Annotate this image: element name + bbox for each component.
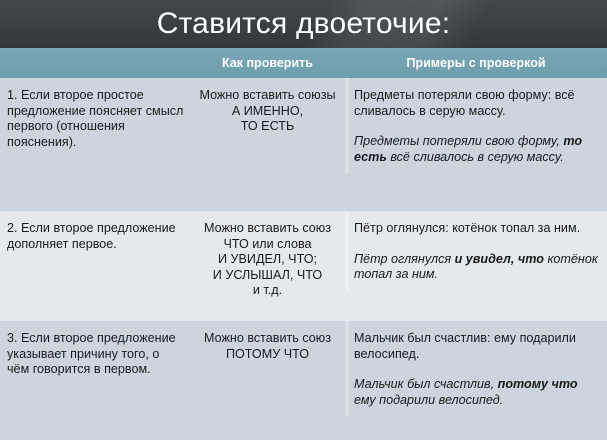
check-cell: Можно вставить союзыА ИМЕННО,ТО ЕСТЬ	[190, 78, 345, 143]
example-italic-after: ему подарили велосипед.	[354, 393, 503, 407]
rule-cell: 3. Если второе предложение указывает при…	[0, 321, 190, 386]
example-conjunction: и увидел, что	[455, 252, 544, 266]
rule-cell: 2. Если второе предложение дополняет пер…	[0, 211, 190, 260]
table-row: 3. Если второе предложение указывает при…	[0, 321, 607, 440]
title-bar: Ставится двоеточие:	[0, 0, 607, 48]
table-header-row: Как проверить Примеры с проверкой	[0, 48, 607, 78]
check-cell: Можно вставить союз ЧТО или словаИ УВИДЕ…	[190, 211, 345, 307]
example-italic-before: Предметы потеряли свою форму,	[354, 134, 563, 148]
example-italic-after: всё сливалось в серую массу.	[387, 150, 564, 164]
example-italic: Мальчик был счастлив, потому что ему под…	[354, 377, 599, 408]
table-row: 1. Если второе простое предложение поясн…	[0, 78, 607, 211]
example-italic-before: Мальчик был счастлив,	[354, 377, 498, 391]
example-italic: Пётр оглянулся и увидел, что котёнок топ…	[354, 252, 599, 283]
rule-cell: 1. Если второе простое предложение поясн…	[0, 78, 190, 158]
example-cell: Мальчик был счастлив: ему подарили велос…	[345, 321, 607, 416]
column-header-how-to-check: Как проверить	[190, 56, 345, 70]
rule-table-sheet: Ставится двоеточие: Как проверить Пример…	[0, 0, 607, 440]
page-title: Ставится двоеточие:	[0, 7, 607, 41]
column-header-examples: Примеры с проверкой	[345, 56, 607, 70]
example-conjunction: потому что	[498, 377, 578, 391]
example-plain: Пётр оглянулся: котёнок топал за ним.	[354, 221, 599, 237]
check-cell: Можно вставить союзПОТОМУ ЧТО	[190, 321, 345, 370]
table-row: 2. Если второе предложение дополняет пер…	[0, 211, 607, 321]
example-italic: Предметы потеряли свою форму, то есть вс…	[354, 134, 599, 165]
example-plain: Предметы потеряли свою форму: всё сливал…	[354, 88, 599, 119]
example-plain: Мальчик был счастлив: ему подарили велос…	[354, 331, 599, 362]
example-italic-before: Пётр оглянулся	[354, 252, 455, 266]
example-cell: Предметы потеряли свою форму: всё сливал…	[345, 78, 607, 173]
example-cell: Пётр оглянулся: котёнок топал за ним. Пё…	[345, 211, 607, 291]
